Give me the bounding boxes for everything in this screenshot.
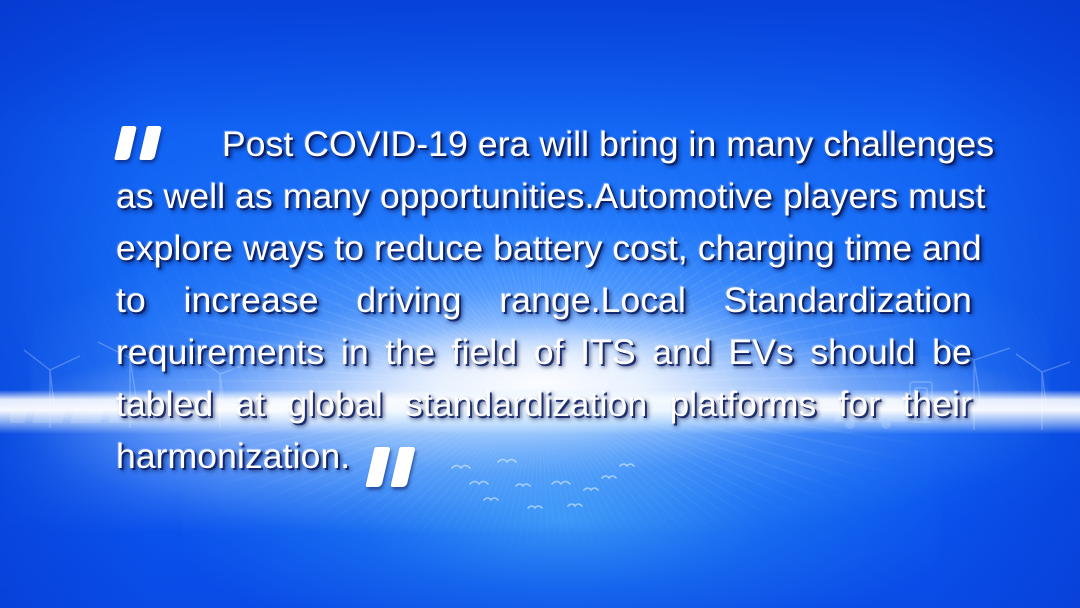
quote-word: and — [652, 326, 712, 378]
quote-word: standardization — [405, 378, 647, 430]
quote-word: the — [385, 326, 435, 378]
quote-slide: Post COVID-19 era will bring in many cha… — [0, 0, 1080, 608]
quote-word: range.Local — [499, 274, 686, 326]
quote-word: driving — [356, 274, 461, 326]
quote-line-6: tabledatglobalstandardizationplatformsfo… — [116, 378, 972, 430]
quote-word: should — [810, 326, 915, 378]
quote-word: tabled — [116, 378, 213, 430]
quote-word: global — [287, 378, 382, 430]
quote-word: requirements — [116, 326, 324, 378]
quote-word: field — [452, 326, 518, 378]
quote-line-4: toincreasedrivingrange.LocalStandardizat… — [116, 274, 972, 326]
quote-word: increase — [184, 274, 319, 326]
open-quote-icon — [116, 126, 170, 160]
quote-word: for — [839, 378, 881, 430]
quote-word: to — [116, 274, 146, 326]
quote-line-7-text: harmonization. — [116, 430, 350, 482]
quote-text-block: Post COVID-19 era will bring in many cha… — [116, 118, 972, 482]
quote-word: be — [932, 326, 972, 378]
close-quote-icon — [368, 447, 422, 481]
quote-line-1: Post COVID-19 era will bring in many cha… — [116, 118, 972, 170]
quote-word: at — [236, 378, 266, 430]
quote-word: their — [902, 378, 972, 430]
quote-word: of — [534, 326, 564, 378]
quote-line-7: harmonization. — [116, 430, 972, 482]
quote-line-2-text: as well as many opportunities.Automotive… — [116, 176, 986, 216]
quote-word: platforms — [669, 378, 816, 430]
quote-line-5: requirementsinthefieldofITSandEVsshouldb… — [116, 326, 972, 378]
quote-line-1-text: Post COVID-19 era will bring in many cha… — [222, 124, 994, 164]
quote-line-3-text: explore ways to reduce battery cost, cha… — [116, 228, 982, 268]
quote-line-2: as well as many opportunities.Automotive… — [116, 170, 972, 222]
quote-word: Standardization — [724, 274, 972, 326]
quote-word: in — [341, 326, 369, 378]
quote-word: EVs — [728, 326, 793, 378]
quote-word: ITS — [580, 326, 636, 378]
quote-line-3: explore ways to reduce battery cost, cha… — [116, 222, 972, 274]
